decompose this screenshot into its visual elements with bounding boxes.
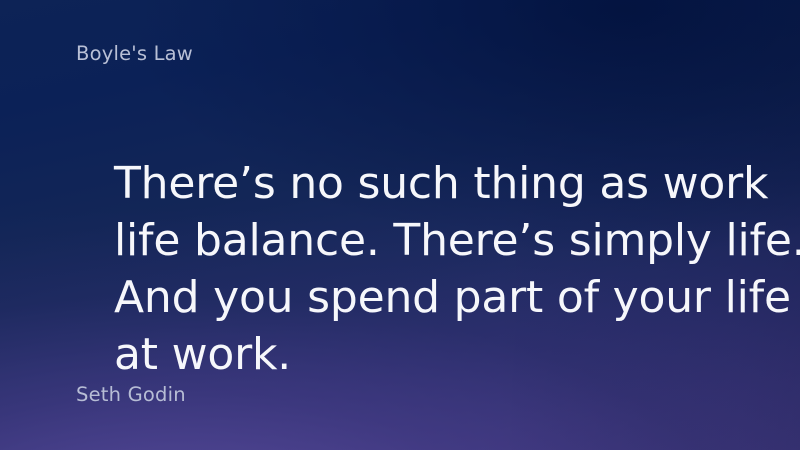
- channel-name-label: Boyle's Law: [76, 42, 193, 65]
- quote-line: There’s no such thing as work: [114, 155, 774, 212]
- quote-line: And you spend part of your life: [114, 269, 774, 326]
- quote-author-label: Seth Godin: [76, 383, 186, 406]
- quote-line: life balance. There’s simply life.: [114, 212, 774, 269]
- quote-line: at work.: [114, 326, 774, 383]
- quote-card: Boyle's Law There’s no such thing as wor…: [0, 0, 800, 450]
- quote-body: There’s no such thing as work life balan…: [114, 155, 774, 383]
